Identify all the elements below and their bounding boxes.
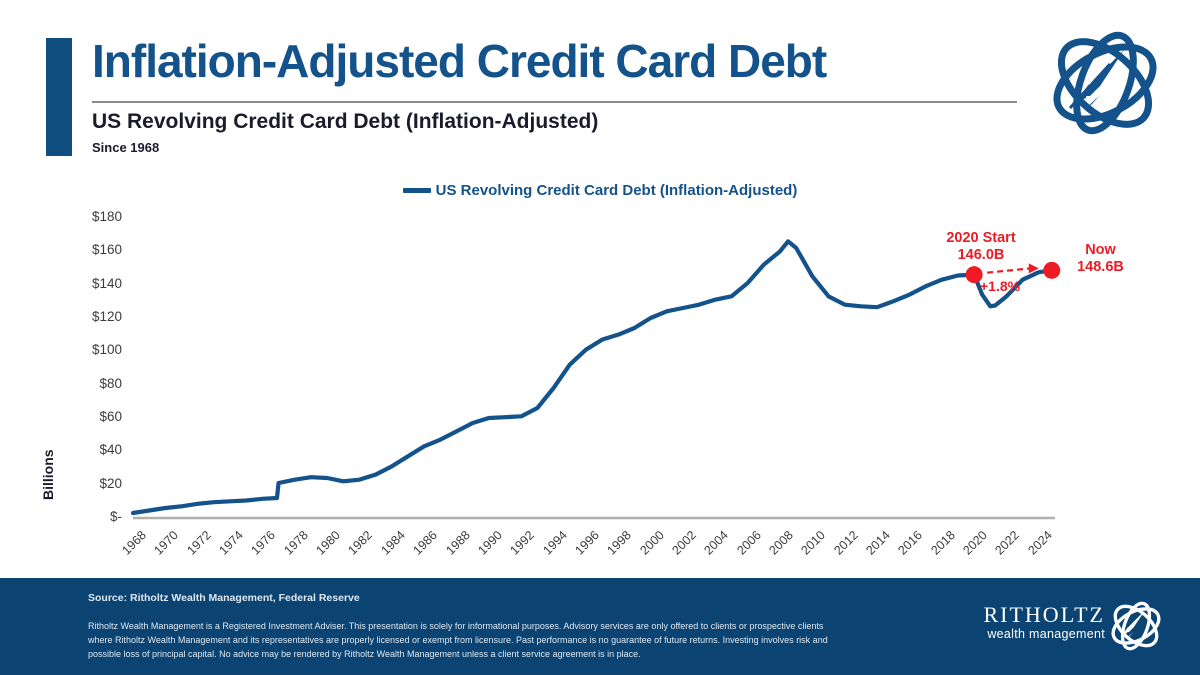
annotation-pct-change: +1.8% <box>980 278 1020 294</box>
legend-color-swatch <box>403 188 431 193</box>
footer-logo: RITHOLTZ wealth management <box>955 598 1170 656</box>
page-title: Inflation-Adjusted Credit Card Debt <box>92 38 1022 85</box>
footer-wordmark-sub: wealth management <box>955 626 1105 642</box>
annotation-now-value: 148.6B <box>1077 259 1124 275</box>
footer-rocket-orbit-logo-icon <box>1105 598 1167 654</box>
title-divider <box>92 101 1017 103</box>
annotation-now-label: Now <box>1085 242 1116 258</box>
source-note: Source: Ritholtz Wealth Management, Fede… <box>88 592 360 604</box>
header-accent-bar <box>46 38 72 156</box>
annotation-2020-start: 2020 Start 146.0B <box>926 230 1036 264</box>
change-arrow-line <box>987 268 1031 272</box>
annotation-2020-start-label: 2020 Start <box>946 230 1015 246</box>
footer-wordmark-main: RITHOLTZ <box>955 604 1105 626</box>
page-header: Inflation-Adjusted Credit Card Debt US R… <box>0 0 1200 170</box>
page-subtitle: US Revolving Credit Card Debt (Inflation… <box>92 110 598 134</box>
legend-label: US Revolving Credit Card Debt (Inflation… <box>436 182 798 199</box>
page-footer: Source: Ritholtz Wealth Management, Fede… <box>0 578 1200 675</box>
rocket-orbit-logo-icon <box>1040 24 1170 142</box>
disclaimer-text: Ritholtz Wealth Management is a Register… <box>88 620 848 662</box>
chart-plot-area: Billions $180$160$140$120$100$80$60$40$2… <box>0 200 1200 578</box>
footer-wordmark: RITHOLTZ wealth management <box>955 604 1105 642</box>
annotation-2020-start-value: 146.0B <box>958 247 1005 263</box>
page-since-label: Since 1968 <box>92 140 159 155</box>
chart-legend: US Revolving Credit Card Debt (Inflation… <box>0 180 1200 199</box>
annotation-now: Now 148.6B <box>1053 242 1148 276</box>
debt-series-line <box>133 241 1052 513</box>
